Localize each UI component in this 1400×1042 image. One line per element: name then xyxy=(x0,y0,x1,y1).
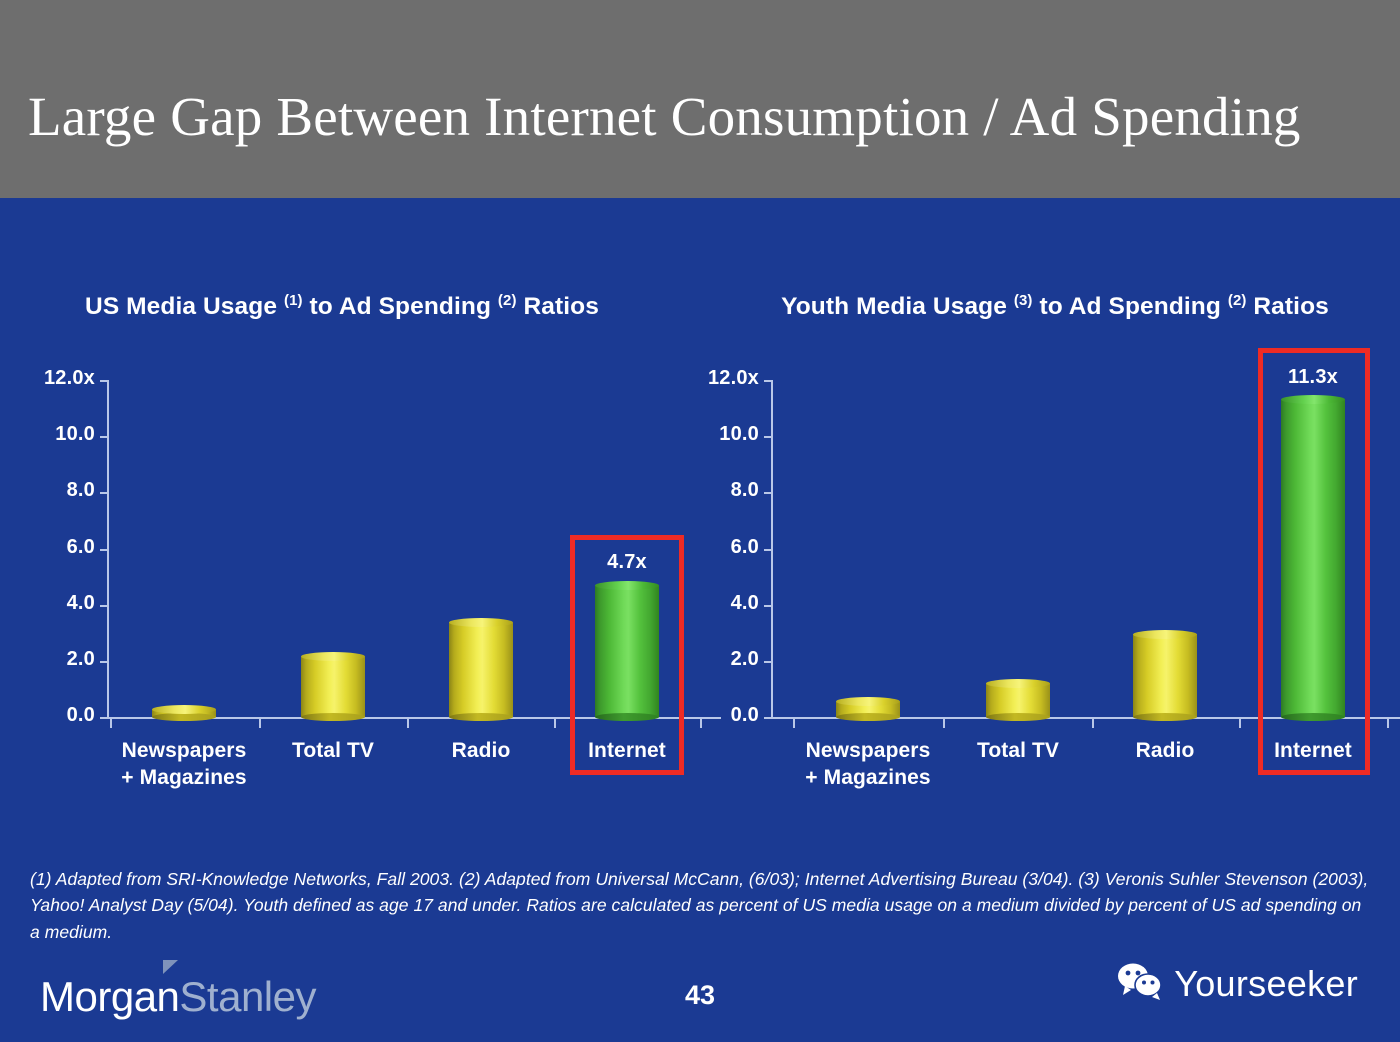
chart-title-segment: Youth Media Usage xyxy=(781,293,1014,320)
y-axis-tick xyxy=(764,436,773,438)
footnote-ref-1: (1) xyxy=(284,292,303,309)
y-axis-tick xyxy=(764,605,773,607)
y-axis-tick xyxy=(764,549,773,551)
chart-title-segment: Ratios xyxy=(517,293,599,320)
bar-total-tv xyxy=(301,657,365,717)
footnote-text: (1) Adapted from SRI-Knowledge Networks,… xyxy=(30,866,1375,945)
y-axis-tick-label: 0.0 xyxy=(671,704,759,727)
category-label-line: + Magazines xyxy=(84,765,284,792)
y-axis-tick xyxy=(764,380,773,382)
x-axis-tick xyxy=(1387,719,1389,728)
bar-base-ellipse xyxy=(1133,713,1197,721)
slide: Large Gap Between Internet Consumption /… xyxy=(0,0,1400,1042)
y-axis-tick-label: 2.0 xyxy=(7,648,95,671)
bar-radio xyxy=(449,623,513,717)
bar-total-tv xyxy=(986,683,1050,717)
brand-label: Yourseeker xyxy=(1174,963,1358,1005)
chart-title-youth-media-usage: Youth Media Usage (3) to Ad Spending (2)… xyxy=(700,290,1400,325)
y-axis-tick-label: 6.0 xyxy=(671,536,759,559)
chart-title-segment: to Ad Spending xyxy=(1033,293,1228,320)
y-axis-tick xyxy=(764,717,773,719)
footnote-ref-2: (2) xyxy=(498,292,517,309)
brand-watermark: Yourseeker xyxy=(1117,962,1358,1005)
y-axis-tick-label: 12.0x xyxy=(671,367,759,390)
x-axis-tick xyxy=(554,719,556,728)
chart-title-us-media-usage: US Media Usage (1) to Ad Spending (2) Ra… xyxy=(0,290,710,325)
footnote-ref-2: (2) xyxy=(1228,292,1247,309)
x-axis-tick xyxy=(1239,719,1241,728)
y-axis-tick-label: 12.0x xyxy=(7,367,95,390)
y-axis-tick-label: 4.0 xyxy=(671,592,759,615)
y-axis-tick xyxy=(764,492,773,494)
y-axis-tick-label: 4.0 xyxy=(7,592,95,615)
bar-body xyxy=(1133,634,1197,717)
wechat-icon xyxy=(1117,962,1163,1005)
chart-title-segment: to Ad Spending xyxy=(303,293,498,320)
y-axis-tick-label: 10.0 xyxy=(671,423,759,446)
chart-title-segment: US Media Usage xyxy=(85,293,284,320)
bar-body xyxy=(986,683,1050,717)
bar-top-ellipse xyxy=(836,697,900,706)
x-axis-tick xyxy=(110,719,112,728)
x-axis-tick xyxy=(259,719,261,728)
y-axis-tick-label: 0.0 xyxy=(7,704,95,727)
y-axis-tick xyxy=(100,436,109,438)
bar-newspapers-magazines xyxy=(836,702,900,717)
morgan-stanley-triangle-icon xyxy=(163,960,178,974)
bar-base-ellipse xyxy=(836,713,900,721)
y-axis-tick xyxy=(100,717,109,719)
y-axis-tick xyxy=(100,492,109,494)
bar-radio xyxy=(1133,634,1197,717)
bar-body xyxy=(301,657,365,717)
bar-body xyxy=(449,623,513,717)
bar-base-ellipse xyxy=(986,713,1050,721)
x-axis-tick xyxy=(793,719,795,728)
y-axis-tick-label: 6.0 xyxy=(7,536,95,559)
bar-base-ellipse xyxy=(301,713,365,721)
bar-base-ellipse xyxy=(449,713,513,721)
y-axis-tick xyxy=(100,380,109,382)
chart-title-segment: Ratios xyxy=(1246,293,1328,320)
footnote-ref-3: (3) xyxy=(1014,292,1033,309)
y-axis-tick xyxy=(100,605,109,607)
category-label-line: + Magazines xyxy=(768,765,968,792)
y-axis-tick-label: 2.0 xyxy=(671,648,759,671)
y-axis-tick-label: 10.0 xyxy=(7,423,95,446)
bar-newspapers-magazines xyxy=(152,710,216,717)
y-axis-tick xyxy=(100,661,109,663)
page-title: Large Gap Between Internet Consumption /… xyxy=(28,88,1378,146)
x-axis-tick xyxy=(407,719,409,728)
bar-top-ellipse xyxy=(1133,630,1197,639)
y-axis-tick-label: 8.0 xyxy=(7,479,95,502)
internet-highlight-box xyxy=(1258,348,1370,775)
y-axis-tick xyxy=(764,661,773,663)
bar-base-ellipse xyxy=(152,713,216,721)
y-axis-tick-label: 8.0 xyxy=(671,479,759,502)
x-axis-tick xyxy=(943,719,945,728)
x-axis-tick xyxy=(1092,719,1094,728)
bar-top-ellipse xyxy=(986,679,1050,688)
y-axis-tick xyxy=(100,549,109,551)
internet-highlight-box xyxy=(570,535,684,775)
